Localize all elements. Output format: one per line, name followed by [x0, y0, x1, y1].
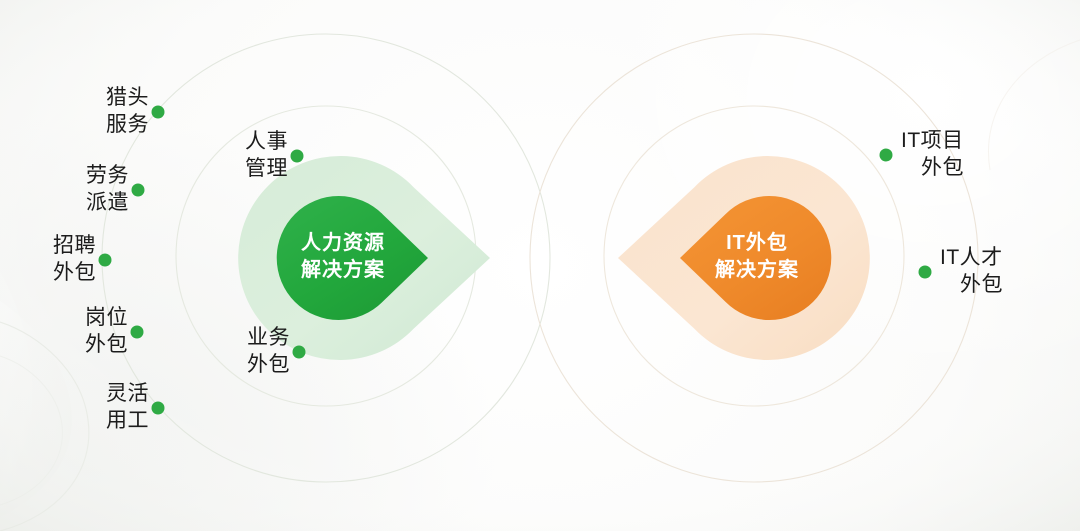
label-lietou-fuwu[interactable]: 猎头 服务: [106, 84, 149, 138]
right-core-label: IT外包 解决方案: [672, 230, 842, 284]
left-core-label-line1: 人力资源: [301, 232, 385, 254]
label-laowu-paiqian-line2: 派遣: [86, 189, 129, 216]
dot-yewu-waibao[interactable]: [293, 346, 306, 359]
dot-laowu-paiqian[interactable]: [132, 184, 145, 197]
dot-it-rencai-waibao[interactable]: [919, 266, 932, 279]
label-it-xiangmu-waibao-line1: IT项目: [901, 129, 964, 152]
label-it-xiangmu-waibao-line2: 外包: [901, 154, 964, 181]
dot-renshi-guanli[interactable]: [291, 150, 304, 163]
label-linghuo-yonggong-line1: 灵活: [106, 382, 149, 405]
dot-lietou-fuwu[interactable]: [152, 106, 165, 119]
label-yewu-waibao-line2: 外包: [247, 351, 290, 378]
label-yewu-waibao-line1: 业务: [247, 326, 290, 349]
label-laowu-paiqian-line1: 劳务: [86, 164, 129, 187]
label-lietou-fuwu-line1: 猎头: [106, 86, 149, 109]
label-zhaopin-waibao[interactable]: 招聘 外包: [53, 232, 96, 286]
dot-linghuo-yonggong[interactable]: [152, 402, 165, 415]
label-linghuo-yonggong-line2: 用工: [106, 407, 149, 434]
label-zhaopin-waibao-line1: 招聘: [53, 234, 96, 257]
dot-gangwei-waibao[interactable]: [131, 326, 144, 339]
label-it-rencai-waibao-line1: IT人才: [940, 246, 1003, 269]
label-zhaopin-waibao-line2: 外包: [53, 259, 96, 286]
label-gangwei-waibao-line1: 岗位: [85, 306, 128, 329]
label-renshi-guanli-line2: 管理: [245, 155, 288, 182]
left-core-label: 人力资源 解决方案: [258, 230, 428, 284]
right-core-label-line2: 解决方案: [672, 257, 842, 284]
label-gangwei-waibao-line2: 外包: [85, 331, 128, 358]
label-renshi-guanli-line1: 人事: [245, 130, 288, 153]
left-core-label-line2: 解决方案: [258, 257, 428, 284]
label-linghuo-yonggong[interactable]: 灵活 用工: [106, 380, 149, 434]
dot-zhaopin-waibao[interactable]: [99, 254, 112, 267]
infographic-canvas: 猎头 服务 劳务 派遣 招聘 外包 岗位 外包 灵活 用工 人事 管理 业务 外…: [0, 0, 1080, 531]
label-it-rencai-waibao[interactable]: IT人才 外包: [940, 244, 1003, 298]
label-it-xiangmu-waibao[interactable]: IT项目 外包: [901, 127, 964, 181]
infinity-diagram: [0, 0, 1080, 531]
right-core-label-line1: IT外包: [726, 232, 788, 254]
label-yewu-waibao[interactable]: 业务 外包: [247, 324, 290, 378]
label-renshi-guanli[interactable]: 人事 管理: [245, 128, 288, 182]
label-lietou-fuwu-line2: 服务: [106, 111, 149, 138]
label-laowu-paiqian[interactable]: 劳务 派遣: [86, 162, 129, 216]
label-gangwei-waibao[interactable]: 岗位 外包: [85, 304, 128, 358]
label-it-rencai-waibao-line2: 外包: [940, 271, 1003, 298]
dot-it-xiangmu-waibao[interactable]: [880, 149, 893, 162]
